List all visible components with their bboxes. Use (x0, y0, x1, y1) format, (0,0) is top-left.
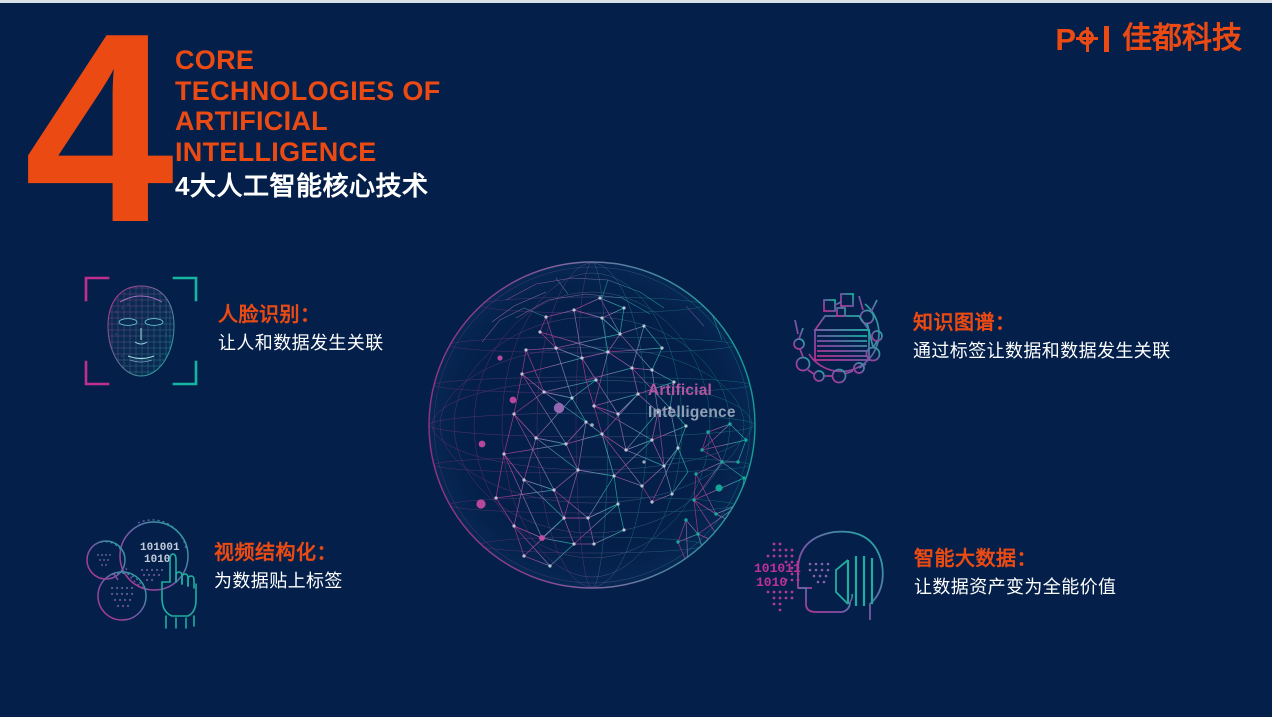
big-number-4: 4 (24, 0, 166, 264)
feature-title: 智能大数据： (914, 546, 1116, 573)
wireframe-globe-icon (396, 222, 788, 632)
face-mesh-scan-icon (82, 272, 200, 395)
feature-text-block: 视频结构化： 为数据贴上标签 (214, 540, 343, 594)
feature-description: 让数据资产变为全能价值 (914, 575, 1116, 600)
title-line-4: INTELLIGENCE (175, 137, 515, 168)
title-block: CORE TECHNOLOGIES OF ARTIFICIAL INTELLIG… (175, 45, 515, 202)
headline-block: 4 CORE TECHNOLOGIES OF ARTIFICIAL INTELL… (0, 0, 520, 240)
feature-video-structuring[interactable]: 101001 1010 (78, 512, 343, 635)
slide-canvas: P 佳都科技 4 CORE TECHNOLOGIES OF ARTIFICIAL… (0, 0, 1272, 717)
target-crosshair-icon (1076, 27, 1101, 52)
feature-text-block: 智能大数据： 让数据资产变为全能价值 (914, 546, 1116, 600)
svg-text:1010: 1010 (144, 554, 170, 566)
knowledge-graph-database-icon (793, 284, 897, 397)
feature-title: 知识图谱： (913, 310, 1171, 337)
title-line-2: TECHNOLOGIES OF (175, 76, 515, 107)
pci-wordmark: P (1055, 24, 1109, 55)
feature-face-recognition[interactable]: 人脸识别： 让人和数据发生关联 (82, 272, 384, 395)
feature-description: 通过标签让数据和数据发生关联 (913, 339, 1171, 364)
feature-title: 视频结构化： (214, 540, 343, 567)
logo-letter-i (1104, 26, 1109, 52)
logo-letter-p: P (1055, 24, 1075, 55)
page-title-chinese: 4大人工智能核心技术 (175, 171, 515, 202)
feature-knowledge-graph[interactable]: 知识图谱： 通过标签让数据和数据发生关联 (793, 284, 1171, 397)
svg-text:1010: 1010 (756, 575, 787, 590)
page-title-english: CORE TECHNOLOGIES OF ARTIFICIAL INTELLIG… (175, 45, 515, 167)
feature-text-block: 知识图谱： 通过标签让数据和数据发生关联 (913, 310, 1171, 364)
globe-center-label: Artificial Intelligence (648, 380, 736, 425)
globe-visual: Artificial Intelligence (396, 222, 788, 632)
title-line-3: ARTIFICIAL (175, 106, 515, 137)
head-binary-data-icon: 101011 1010 (752, 518, 900, 635)
ai-label-line-1: Artificial (648, 380, 736, 402)
logo-chinese-name: 佳都科技 (1122, 24, 1242, 54)
feature-text-block: 人脸识别： 让人和数据发生关联 (218, 302, 384, 356)
title-line-1: CORE (175, 45, 515, 76)
feature-description: 让人和数据发生关联 (218, 331, 384, 356)
feature-big-data[interactable]: 101011 1010 (752, 518, 1116, 635)
feature-description: 为数据贴上标签 (214, 569, 343, 594)
ai-label-line-2: Intelligence (648, 402, 736, 424)
brand-logo[interactable]: P 佳都科技 (1055, 22, 1242, 56)
feature-title: 人脸识别： (218, 302, 384, 329)
svg-text:101011: 101011 (754, 561, 801, 576)
video-structuring-hand-icon: 101001 1010 (78, 512, 198, 635)
svg-text:101001: 101001 (140, 542, 180, 554)
